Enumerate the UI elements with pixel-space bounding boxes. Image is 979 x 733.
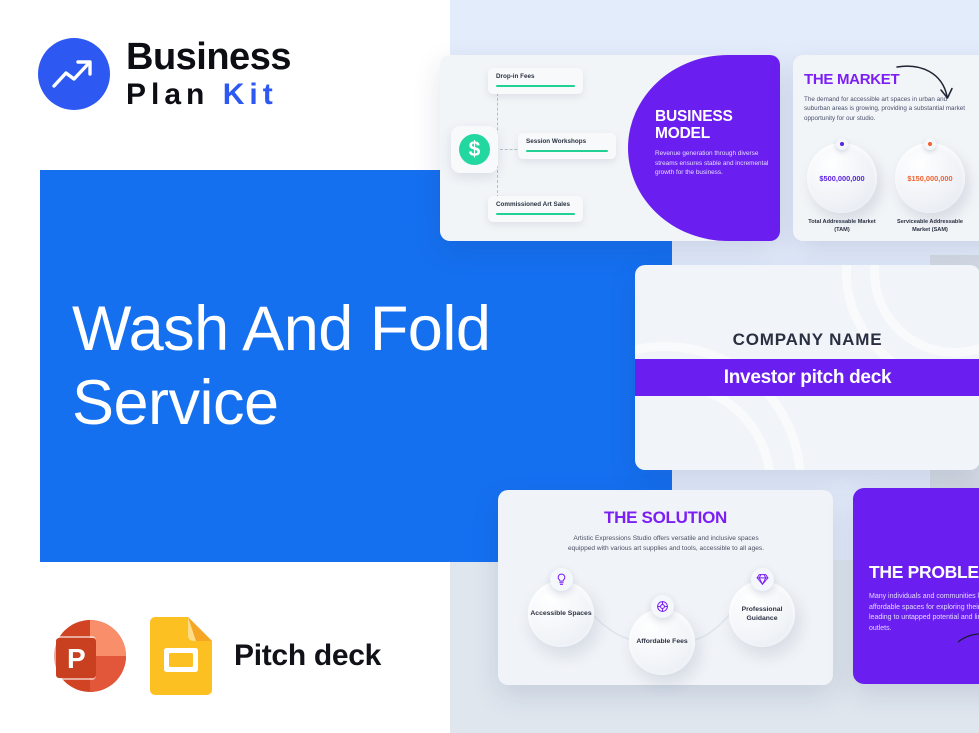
poster-canvas: Business Plan Kit Wash And Fold Service …	[0, 0, 979, 733]
accent-bar	[526, 150, 608, 152]
market-metric-circle: $150,000,000	[895, 143, 965, 213]
business-model-title: BUSINESS MODEL	[655, 108, 770, 142]
brand-name-line1: Business	[126, 38, 291, 76]
pitch-subtitle-bar: Investor pitch deck	[635, 359, 979, 396]
hero-title: Wash And Fold Service	[72, 292, 632, 440]
market-metric-value: $500,000,000	[819, 174, 864, 183]
market-metric-caption: Serviceable Addressable Market (SAM)	[888, 219, 972, 234]
solution-pillar-label: Affordable Fees	[636, 637, 687, 646]
powerpoint-icon: P	[40, 612, 128, 700]
market-metric-value: $150,000,000	[907, 174, 952, 183]
solution-pillar-1[interactable]: Affordable Fees	[629, 609, 695, 675]
format-label: Pitch deck	[234, 639, 381, 673]
business-model-item-label: Session Workshops	[526, 138, 608, 145]
dollar-symbol: $	[459, 134, 490, 165]
diamond-icon	[751, 568, 774, 591]
accent-bar	[496, 85, 575, 87]
business-model-purple-shape	[628, 55, 780, 241]
brand-plan-word: Plan	[126, 78, 209, 111]
trend-arrow-circle-icon	[38, 38, 110, 110]
brand-name-line2: Plan Kit	[126, 80, 291, 110]
target-icon	[651, 595, 674, 618]
svg-text:P: P	[67, 643, 86, 674]
business-model-item-label: Drop-in Fees	[496, 73, 575, 80]
business-model-description: Revenue generation through diverse strea…	[655, 149, 773, 178]
lightbulb-icon	[550, 568, 573, 591]
market-metric-caption: Total Addressable Market (TAM)	[800, 219, 884, 234]
metric-dot-icon	[836, 138, 848, 150]
market-metric-1[interactable]: $150,000,000 Serviceable Addressable Mar…	[895, 143, 972, 234]
pitch-company-name: COMPANY NAME	[635, 330, 979, 350]
google-slides-icon	[150, 617, 212, 695]
market-title: THE MARKET	[804, 71, 899, 88]
problem-description: Many individuals and communities lack ac…	[869, 592, 979, 634]
market-metric-circle: $500,000,000	[807, 143, 877, 213]
metric-dot-icon	[924, 138, 936, 150]
curved-arrow-icon	[895, 63, 955, 110]
business-model-item-label: Commissioned Art Sales	[496, 201, 575, 208]
solution-title: THE SOLUTION	[498, 508, 833, 528]
dollar-icon: $	[451, 126, 498, 173]
business-model-item-1[interactable]: Session Workshops	[518, 133, 616, 159]
brand-logo: Business Plan Kit	[38, 38, 291, 110]
market-metric-0[interactable]: $500,000,000 Total Addressable Market (T…	[807, 143, 884, 234]
problem-title: THE PROBLEM	[869, 562, 979, 583]
solution-pillar-label: Professional Guidance	[729, 605, 795, 624]
pitch-subtitle: Investor pitch deck	[724, 367, 891, 389]
business-model-item-2[interactable]: Commissioned Art Sales	[488, 196, 583, 222]
business-model-item-0[interactable]: Drop-in Fees	[488, 68, 583, 94]
solution-pillar-label: Accessible Spaces	[530, 609, 591, 618]
problem-decorative-arrow-icon	[958, 630, 979, 660]
brand-kit-word: Kit	[223, 78, 278, 111]
format-row: P Pitch deck	[40, 612, 381, 700]
solution-description: Artistic Expressions Studio offers versa…	[560, 534, 772, 553]
accent-bar	[496, 213, 575, 215]
